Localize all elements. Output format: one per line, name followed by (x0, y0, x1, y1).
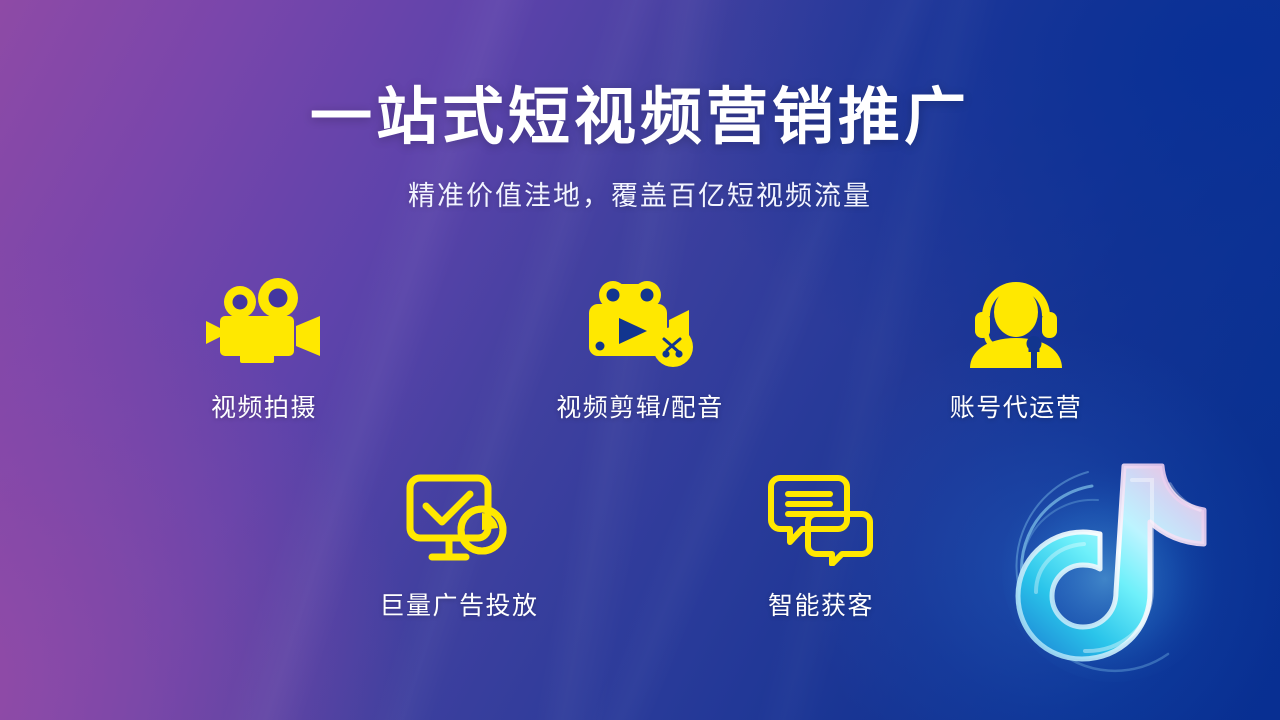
video-edit-scissors-icon (581, 272, 699, 368)
service-item-video-editing[interactable]: 视频剪辑/配音 (545, 272, 735, 424)
headset-agent-icon (962, 272, 1070, 368)
service-label: 账号代运营 (950, 388, 1083, 424)
heading-block: 一站式短视频营销推广 精准价值洼地，覆盖百亿短视频流量 (0, 0, 1280, 213)
service-item-smart-acquisition[interactable]: 智能获客 (726, 470, 916, 622)
promo-banner: 一站式短视频营销推广 精准价值洼地，覆盖百亿短视频流量 (0, 0, 1280, 720)
monitor-analytics-icon (404, 470, 514, 566)
service-item-video-shooting[interactable]: 视频拍摄 (169, 272, 359, 424)
service-label: 巨量广告投放 (379, 586, 538, 622)
page-subtitle: 精准价值洼地，覆盖百亿短视频流量 (0, 174, 1280, 213)
chat-bubbles-icon (766, 470, 876, 566)
movie-camera-icon (204, 272, 324, 368)
service-label: 智能获客 (768, 586, 874, 622)
service-label: 视频剪辑/配音 (556, 388, 723, 424)
service-label: 视频拍摄 (211, 388, 317, 424)
service-item-ad-placement[interactable]: 巨量广告投放 (364, 470, 554, 622)
service-row-primary: 视频拍摄 (0, 272, 1280, 424)
douyin-music-note-logo (992, 440, 1242, 690)
service-item-account-operation[interactable]: 账号代运营 (921, 272, 1111, 424)
page-title: 一站式短视频营销推广 (0, 85, 1280, 152)
